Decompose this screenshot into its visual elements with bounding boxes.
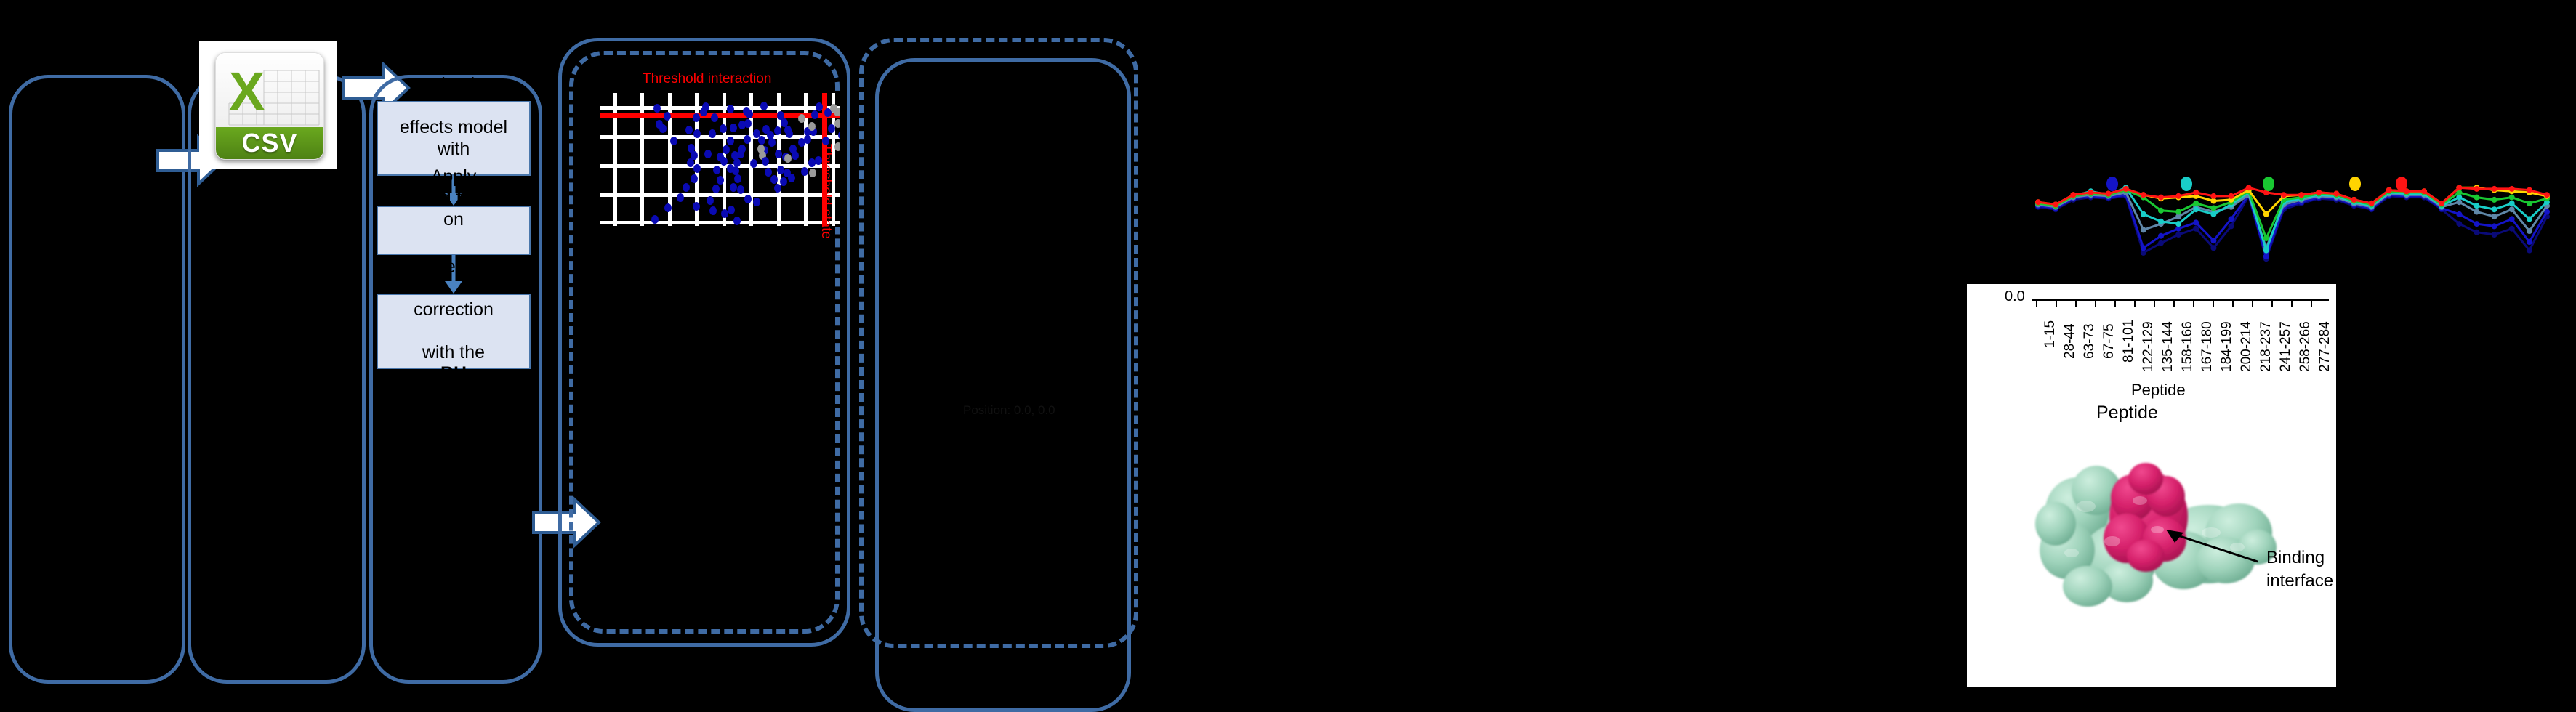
legend-dot-red (2396, 177, 2407, 191)
chart-point (2035, 199, 2041, 205)
xtick-label: 1-15 (2042, 320, 2058, 348)
csv-file-icon: X CSV (215, 52, 324, 160)
scatter-point (677, 193, 684, 202)
scatter-point (693, 113, 700, 122)
chart-point (2263, 235, 2269, 241)
chart-point (2263, 211, 2269, 217)
xtick-label: 167-180 (2199, 321, 2215, 372)
chart-point (2492, 214, 2497, 219)
scatter-point (834, 108, 840, 116)
chart-point (2492, 197, 2497, 203)
chart-point (2544, 192, 2550, 198)
scatter-point (737, 185, 744, 194)
chart-point (2369, 201, 2375, 206)
chart-point (2210, 193, 2216, 199)
scatter-point (834, 119, 840, 128)
scatter-plot-area (600, 93, 840, 226)
scatter-point (691, 174, 698, 183)
scatter-point (713, 166, 720, 174)
box-bh-l2: correction (387, 299, 520, 321)
chart-point (2281, 192, 2287, 198)
chart-point (2193, 201, 2199, 206)
scatter-point (753, 198, 760, 206)
box-bh-l3a: with the (387, 342, 520, 364)
chart-point (2210, 238, 2216, 243)
box-bh-l1: Multiple testing (387, 256, 520, 278)
scatter-title: Threshold interaction (643, 71, 771, 87)
scatter-point (709, 206, 717, 215)
grid-line-h (600, 106, 840, 110)
chart-point (2263, 248, 2269, 254)
xtick-label: 28-44 (2062, 323, 2078, 359)
xtick-label: 63-73 (2082, 323, 2098, 359)
chart-point (2492, 223, 2497, 229)
xtick-label: 81-101 (2121, 320, 2137, 363)
scatter-point (659, 124, 667, 133)
scatter-point (760, 102, 768, 110)
chart-point (2456, 221, 2462, 227)
scatter-point (746, 110, 753, 118)
chart-point (2175, 193, 2181, 199)
box-bh-l3c: procedure (387, 385, 520, 407)
xtick-label: 277-284 (2317, 321, 2333, 372)
scatter-point (664, 203, 672, 212)
chart-point (2333, 191, 2339, 197)
chart-point (2527, 201, 2532, 206)
xtick-label: 67-75 (2101, 323, 2117, 359)
scatter-point (770, 175, 778, 184)
chart-point (2141, 211, 2146, 217)
chart-point (2175, 209, 2181, 215)
chart-point (2527, 239, 2532, 245)
scatter-point (707, 196, 714, 205)
scatter-point (730, 124, 737, 132)
box-bh: Multiple testing correction with the BH … (377, 294, 531, 369)
chart-xlabel: Peptide (2131, 381, 2186, 400)
scatter-point (720, 157, 728, 166)
chart-point (2351, 197, 2357, 203)
xtick-label: 122-129 (2141, 321, 2157, 372)
threshold-state-label: Threshold state (818, 144, 834, 239)
chart-point (2158, 240, 2164, 246)
xtick-label: 258-266 (2298, 321, 2314, 372)
chart-series-s-blue (2038, 195, 2547, 256)
scatter-point (693, 129, 701, 138)
chart-point (2210, 211, 2216, 217)
protein-surface-render (2011, 431, 2287, 627)
scatter-point (804, 135, 811, 144)
chart-point (2123, 186, 2129, 192)
structure-figure: 0.0 1-15 28-44 63-73 67-75 81-101 122-12… (1967, 284, 2336, 687)
chart-point (2175, 232, 2181, 238)
scatter-point (720, 124, 727, 133)
scatter-point (727, 105, 734, 113)
scatter-point (765, 168, 772, 177)
grid-line-h (600, 221, 840, 224)
chart-point (2474, 209, 2479, 215)
chart-point (2492, 232, 2497, 238)
scatter-point (808, 122, 816, 131)
scatter-point (730, 183, 737, 192)
scatter-point (687, 158, 694, 167)
chart-point (2316, 190, 2322, 195)
scatter-point (685, 126, 693, 134)
chart-point (2527, 187, 2532, 193)
box-wald-l1a: Apply (384, 166, 523, 188)
chart-point (2298, 192, 2304, 198)
scatter-point (786, 129, 793, 138)
scatter-point (774, 184, 781, 193)
chart-point (2421, 188, 2427, 194)
scatter-point (780, 177, 787, 186)
scatter-point (717, 176, 724, 185)
scatter-point (750, 159, 757, 168)
chart-y-tick-0: 0.0 (2005, 288, 2025, 305)
chart-point (2527, 216, 2532, 222)
scatter-point (653, 104, 661, 113)
chart-point (2263, 254, 2269, 259)
chart-point (2193, 190, 2199, 195)
chart-point (2229, 223, 2234, 229)
scatter-point (744, 135, 751, 144)
box-wald-l1c: on (384, 209, 523, 231)
scatter-point (798, 114, 805, 123)
scatter-point (734, 174, 741, 183)
scatter-point (709, 129, 716, 138)
box-reml-l1: Fit a linear mixed- (384, 53, 523, 96)
scatter-point (775, 150, 782, 158)
panel-structure (875, 58, 1131, 712)
chart-point (2386, 187, 2392, 193)
scatter-point (651, 215, 659, 224)
chart-point (2141, 227, 2146, 232)
chart-point (2509, 201, 2515, 206)
chart-point (2474, 221, 2479, 227)
scatter-point (809, 169, 816, 177)
scatter-point (704, 150, 712, 158)
scatter-point (801, 167, 808, 176)
chart-point (2229, 216, 2234, 222)
xtick-label: 158-166 (2180, 321, 2196, 372)
chart-point (2210, 206, 2216, 211)
xtick-label: 200-214 (2239, 321, 2255, 372)
scatter-point (723, 145, 730, 154)
scatter-point (737, 150, 744, 158)
flowchart-figure: X CSV Fit a linear mixed- effects model … (0, 0, 2576, 687)
scatter-point (664, 112, 671, 121)
scatter-point (712, 185, 720, 193)
scatter-point (834, 142, 840, 151)
scatter-point (744, 119, 752, 128)
scatter-point (728, 206, 735, 214)
scatter-point (774, 126, 781, 135)
peptide-label: Peptide (2096, 402, 2158, 424)
peptide-line-chart (2013, 156, 2559, 302)
scatter-point (768, 138, 776, 147)
legend-dot-yellow (2349, 177, 2361, 191)
chart-point (2175, 221, 2181, 227)
chart-point (2474, 230, 2479, 235)
binding-interface-label-line1: Binding (2266, 548, 2325, 568)
chart-point (2456, 211, 2462, 217)
box-reml-l2: effects model with (384, 117, 523, 160)
box-reml: Fit a linear mixed- effects model with R… (377, 101, 531, 176)
chart-point (2527, 248, 2532, 254)
chart-point (2229, 193, 2234, 199)
scatter-point (700, 108, 707, 116)
scatter-point (811, 110, 818, 119)
chart-point (2158, 208, 2164, 214)
xtick-label: 218-237 (2258, 321, 2274, 372)
box-wald: Apply Wald tests on the model parameters (377, 206, 531, 255)
legend-dot-blue (2106, 177, 2118, 191)
scatter-point (828, 124, 835, 133)
csv-label: CSV (241, 128, 297, 158)
chart-point (2492, 206, 2497, 212)
scatter-point (683, 183, 690, 192)
chart-point (2474, 186, 2479, 192)
chart-point (2509, 186, 2515, 192)
csv-x-letter: X (229, 65, 265, 118)
chart-point (2158, 233, 2164, 239)
xtick-label: 184-199 (2219, 321, 2235, 372)
chart-point (2509, 195, 2515, 201)
chart-point (2193, 206, 2199, 212)
scatter-point (758, 136, 765, 145)
chart-point (2158, 195, 2164, 201)
chart-point (2474, 195, 2479, 201)
chart-point (2509, 216, 2515, 222)
chart-point (2456, 185, 2462, 190)
chart-point (2158, 219, 2164, 224)
csv-label-band: CSV (216, 127, 323, 159)
chart-point (2053, 202, 2058, 208)
chart-point (2439, 201, 2444, 206)
binding-interface-label-line2: interface (2266, 571, 2333, 591)
scatter-point (784, 154, 792, 163)
scatter-point (816, 102, 823, 111)
chart-point (2210, 245, 2216, 251)
scatter-point (733, 217, 741, 225)
xtick-label: 135-144 (2160, 321, 2176, 372)
scatter-point (744, 195, 752, 203)
legend-dot-cyan (2181, 177, 2192, 191)
chart-point (2193, 226, 2199, 232)
scatter-point (693, 164, 701, 173)
chart-point (2509, 226, 2515, 232)
chart-point (2492, 186, 2497, 192)
scatter-point (693, 202, 700, 211)
chart-point (2474, 203, 2479, 209)
grid-line-h (600, 193, 840, 197)
scatter-point (762, 157, 769, 166)
chart-point (2141, 245, 2146, 251)
chart-x-ticks (2032, 299, 2330, 307)
chart-point (2141, 192, 2146, 198)
chart-point (2193, 219, 2199, 225)
scatter-point (792, 151, 799, 160)
scatter-point (711, 113, 718, 122)
chart-point (2527, 228, 2532, 234)
scatter-point (670, 137, 677, 145)
scatter-point (727, 137, 734, 145)
scatter-point (838, 131, 840, 139)
chart-point (2509, 206, 2515, 212)
box-bh-l3b: BH (440, 363, 467, 384)
xtick-label: 241-257 (2278, 321, 2294, 372)
chart-point (2246, 185, 2252, 190)
chart-point (2106, 191, 2112, 197)
scatter-point (788, 174, 795, 182)
chart-point (2070, 192, 2076, 198)
box-wald-l1b: Wald tests (408, 187, 499, 208)
legend-dot-green (2263, 177, 2274, 191)
chart-point (2088, 190, 2093, 195)
